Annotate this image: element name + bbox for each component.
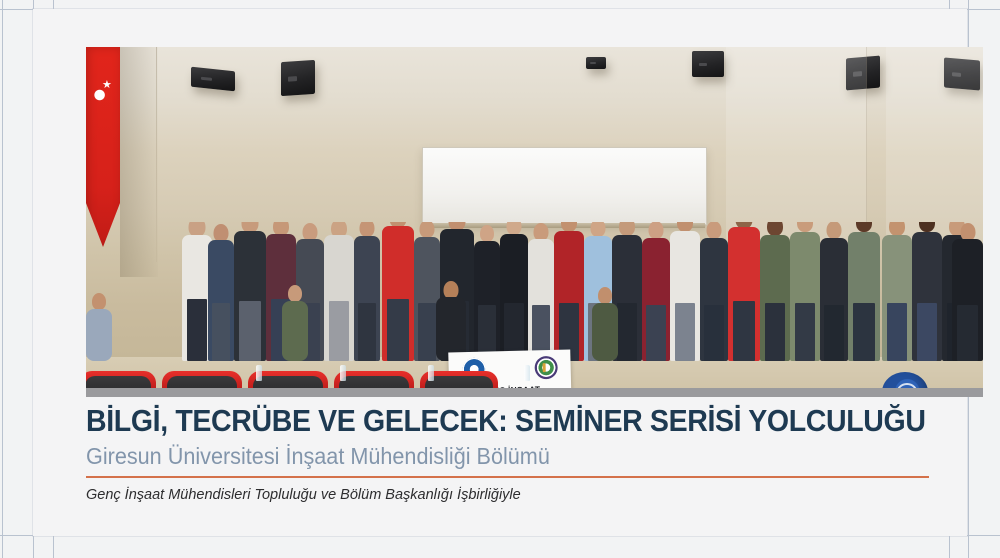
water-bottle [340, 365, 346, 381]
divider-rule [86, 476, 929, 478]
person [790, 222, 820, 361]
article-kicker: Genç İnşaat Mühendisleri Topluluğu ve Bö… [86, 487, 983, 503]
article-text-block: BİLGİ, TECRÜBE VE GELECEK: SEMİNER SERİS… [86, 405, 983, 503]
person-crouching [436, 279, 466, 361]
photo-bottom-edge [86, 388, 983, 397]
person [208, 222, 234, 361]
wall-speaker [191, 67, 235, 92]
guide-line-vertical-outer-left [2, 0, 3, 558]
person [642, 222, 670, 361]
screenshot-root: GENÇ İNŞAAT MÜHENDİSLERİ TOPLULUĞU BİLGİ… [0, 0, 1000, 558]
person [554, 222, 584, 361]
person-crouching [86, 291, 112, 361]
person [952, 222, 983, 361]
wall-speaker [586, 57, 606, 69]
water-bottle [256, 365, 262, 381]
water-bottle [524, 365, 530, 381]
person-crouching [282, 283, 308, 361]
wall-speaker [281, 60, 315, 96]
wall-speaker [692, 51, 724, 77]
person [500, 222, 528, 361]
person [728, 222, 760, 361]
article-photo: GENÇ İNŞAAT MÜHENDİSLERİ TOPLULUĞU [86, 47, 983, 397]
person [820, 222, 848, 361]
person [382, 222, 414, 361]
turkish-flag [86, 47, 120, 247]
crowd-group [86, 222, 983, 361]
person [234, 222, 266, 361]
person [354, 222, 380, 361]
article-subheadline: Giresun Üniversitesi İnşaat Mühendisliği… [86, 443, 929, 471]
person [882, 222, 912, 361]
person [670, 222, 700, 361]
person [700, 222, 728, 361]
article-card: GENÇ İNŞAAT MÜHENDİSLERİ TOPLULUĞU BİLGİ… [33, 9, 967, 536]
person [324, 222, 354, 361]
photo-scene: GENÇ İNŞAAT MÜHENDİSLERİ TOPLULUĞU [86, 47, 983, 397]
person [848, 222, 880, 361]
person [528, 222, 554, 361]
person [912, 222, 942, 361]
projector-screen [422, 147, 707, 225]
person [474, 222, 500, 361]
universite-logo-icon [534, 356, 558, 380]
person [760, 222, 790, 361]
water-bottle [428, 365, 434, 381]
person-crouching [592, 285, 618, 361]
article-headline: BİLGİ, TECRÜBE VE GELECEK: SEMİNER SERİS… [86, 405, 911, 438]
